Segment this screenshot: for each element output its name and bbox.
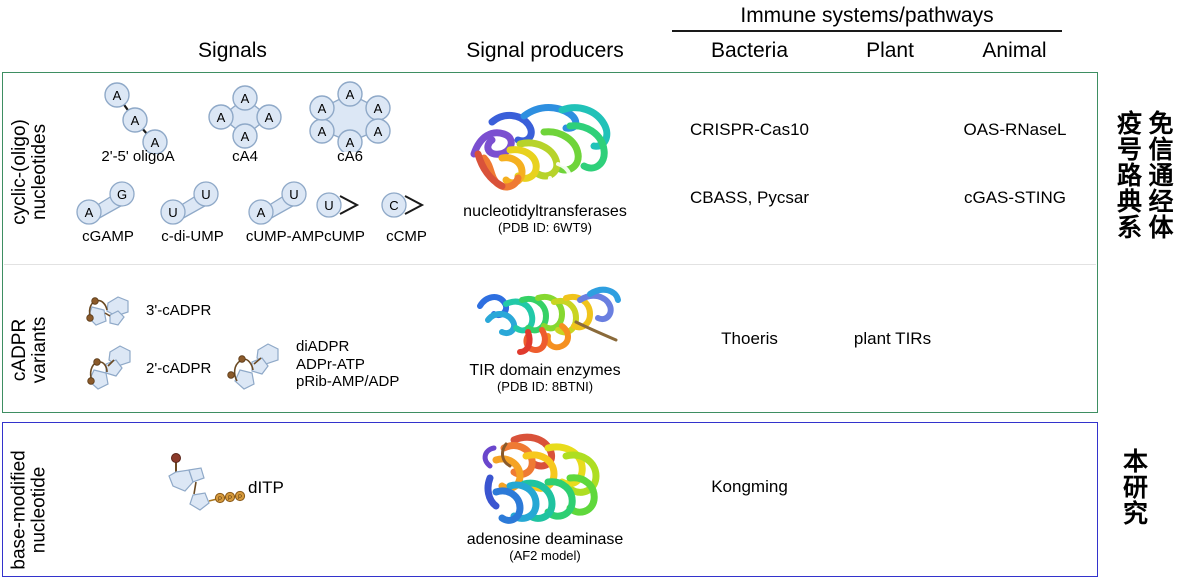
annotation-this-study-col: 本研究 xyxy=(1118,448,1149,526)
molecule-cA6: A A A A A A xyxy=(300,80,400,152)
molecule-cUMP-AMP: A U xyxy=(240,180,320,226)
header-bacteria: Bacteria xyxy=(672,40,827,61)
molecule-label-cA4: cA4 xyxy=(200,148,290,166)
system-animal-oas-rnasel: OAS-RNaseL xyxy=(945,121,1085,138)
svg-text:A: A xyxy=(241,129,250,144)
row-label-line2: nucleotide xyxy=(30,427,50,579)
svg-text:A: A xyxy=(257,205,266,220)
protein-pdb-id: (PDB ID: 8BTNI) xyxy=(420,380,670,395)
system-bacteria-cbass-pycsar: CBASS, Pycsar xyxy=(672,189,827,206)
protein-structure-tir-domain-enzymes xyxy=(470,278,628,360)
protein-caption-nucleotidyltransferases: nucleotidyltransferases (PDB ID: 6WT9) xyxy=(420,203,670,236)
svg-text:A: A xyxy=(374,124,383,139)
annotation-this-study: 本研究 xyxy=(1118,448,1149,526)
svg-text:A: A xyxy=(241,91,250,106)
svg-text:A: A xyxy=(85,205,94,220)
svg-text:A: A xyxy=(113,88,122,103)
system-bacteria-crispr-cas10: CRISPR-Cas10 xyxy=(672,121,827,138)
system-plant-tirs: plant TIRs xyxy=(830,330,955,347)
protein-structure-adenosine-deaminase xyxy=(470,430,630,530)
svg-text:A: A xyxy=(318,124,327,139)
header-immune-group: Immune systems/pathways xyxy=(672,5,1062,26)
molecule-label-3-cADPR: 3'-cADPR xyxy=(146,302,266,320)
header-signals: Signals xyxy=(130,40,335,61)
header-animal: Animal xyxy=(952,40,1077,61)
annotation-classic-col2: 疫号路典系 xyxy=(1112,110,1143,240)
svg-text:A: A xyxy=(346,87,355,102)
protein-pdb-id: (PDB ID: 6WT9) xyxy=(420,221,670,236)
molecule-cUMP: U xyxy=(315,188,367,222)
row-label-line1: cADPR xyxy=(9,319,30,381)
molecule-label-dITP: dITP xyxy=(248,478,338,498)
protein-model-id: (AF2 model) xyxy=(420,549,670,564)
svg-text:U: U xyxy=(168,205,177,220)
svg-text:P: P xyxy=(218,497,222,503)
svg-text:G: G xyxy=(117,187,127,202)
label-ADPr-ATP: ADPr-ATP xyxy=(296,356,365,373)
header-plant: Plant xyxy=(830,40,950,61)
system-bacteria-kongming: Kongming xyxy=(672,478,827,495)
protein-caption-adenosine-deaminase: adenosine deaminase (AF2 model) xyxy=(420,531,670,564)
svg-text:P: P xyxy=(228,496,232,502)
protein-structure-nucleotidyltransferases xyxy=(462,92,632,200)
protein-caption-tir-domain-enzymes: TIR domain enzymes (PDB ID: 8BTNI) xyxy=(420,362,670,395)
svg-text:A: A xyxy=(318,101,327,116)
row-label-line1: cyclic-(oligo) xyxy=(9,119,30,225)
immune-group-rule xyxy=(672,30,1062,32)
molecule-cGAMP: A G xyxy=(68,180,148,226)
svg-text:P: P xyxy=(238,495,242,501)
molecule-c-di-UMP: U U xyxy=(152,180,232,226)
svg-text:U: U xyxy=(201,187,210,202)
svg-text:A: A xyxy=(374,101,383,116)
row-label-cadpr-variants: cADPR variants xyxy=(10,285,50,415)
svg-text:A: A xyxy=(217,110,226,125)
label-pRib-AMP-ADP: pRib-AMP/ADP xyxy=(296,373,399,390)
label-diADPR: diADPR xyxy=(296,338,349,355)
row-label-line1: base-modified xyxy=(9,450,30,569)
figure-root: Signals Signal producers Immune systems/… xyxy=(0,0,1178,579)
system-animal-cgas-sting: cGAS-STING xyxy=(945,189,1085,206)
molecule-dITP: P P P xyxy=(155,450,247,522)
protein-name: TIR domain enzymes xyxy=(420,362,670,380)
protein-name: nucleotidyltransferases xyxy=(420,203,670,221)
molecule-label-oligoA: 2'-5' oligoA xyxy=(78,148,198,166)
molecule-cA4: A A A A xyxy=(207,84,283,150)
svg-text:A: A xyxy=(131,113,140,128)
molecule-oligoA: A A A xyxy=(95,82,175,154)
protein-name: adenosine deaminase xyxy=(420,531,670,549)
row-label-line2: variants xyxy=(30,285,50,415)
row-label-line2: nucleotides xyxy=(30,92,50,252)
row-label-cyclic-oligo-nucleotides: cyclic-(oligo) nucleotides xyxy=(10,92,50,252)
row-label-base-modified-nucleotide: base-modified nucleotide xyxy=(10,427,50,579)
row-divider-1 xyxy=(4,264,1096,265)
system-bacteria-thoeris: Thoeris xyxy=(672,330,827,347)
molecule-3-cADPR xyxy=(78,285,142,335)
svg-text:A: A xyxy=(265,110,274,125)
annotation-classic-systems: 免信通经体 疫号路典系 xyxy=(1112,110,1174,240)
annotation-classic-col1: 免信通经体 xyxy=(1144,110,1175,240)
molecule-2-cADPR xyxy=(78,340,142,392)
molecule-diADPR-group xyxy=(222,338,292,394)
svg-text:C: C xyxy=(389,198,398,213)
svg-text:U: U xyxy=(289,187,298,202)
molecule-label-cUMP: cUMP xyxy=(312,228,377,246)
molecule-label-cA6: cA6 xyxy=(305,148,395,166)
header-signal-producers: Signal producers xyxy=(420,40,670,61)
svg-text:U: U xyxy=(324,198,333,213)
